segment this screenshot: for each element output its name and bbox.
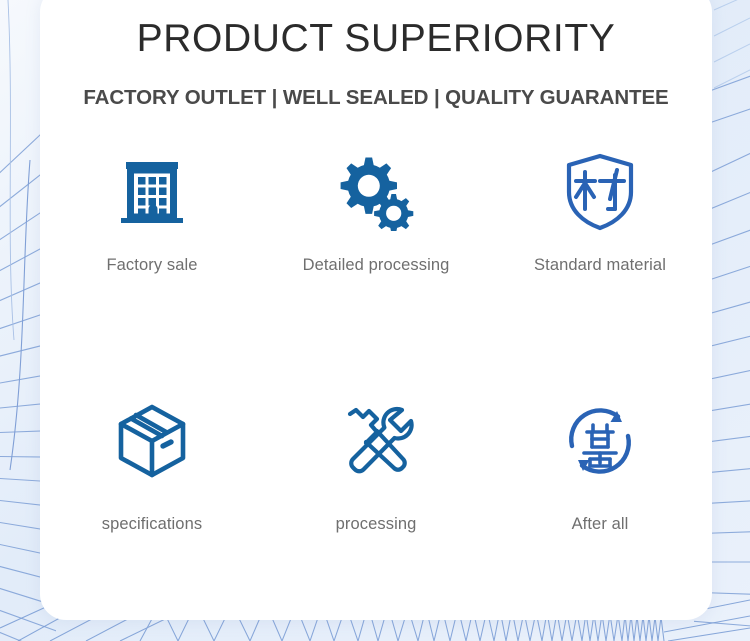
feature-item-detailed-processing[interactable]: Detailed processing (264, 144, 488, 339)
shield-material-icon (552, 144, 648, 240)
content-card: PRODUCT SUPERIORITY FACTORY OUTLET | WEL… (40, 0, 712, 620)
hammer-wrench-icon (328, 393, 424, 489)
feature-label: Standard material (534, 256, 666, 275)
after-sales-circle-icon (552, 393, 648, 489)
page-subtitle: FACTORY OUTLET | WELL SEALED | QUALITY G… (40, 86, 712, 110)
feature-item-specifications[interactable]: specifications (40, 393, 264, 534)
package-box-icon (104, 393, 200, 489)
page-title: PRODUCT SUPERIORITY (40, 18, 712, 60)
feature-label: Factory sale (106, 256, 197, 275)
gears-icon (328, 144, 424, 240)
feature-label: specifications (102, 515, 202, 534)
feature-label: processing (336, 515, 417, 534)
feature-label: After all (572, 515, 629, 534)
feature-label: Detailed processing (303, 256, 450, 275)
feature-item-factory-sale[interactable]: Factory sale (40, 144, 264, 339)
feature-item-after-sales[interactable]: After all (488, 393, 712, 534)
feature-item-processing[interactable]: processing (264, 393, 488, 534)
feature-item-standard-material[interactable]: Standard material (488, 144, 712, 339)
factory-building-icon (104, 144, 200, 240)
feature-grid: Factory sale Detailed processing (40, 144, 712, 534)
